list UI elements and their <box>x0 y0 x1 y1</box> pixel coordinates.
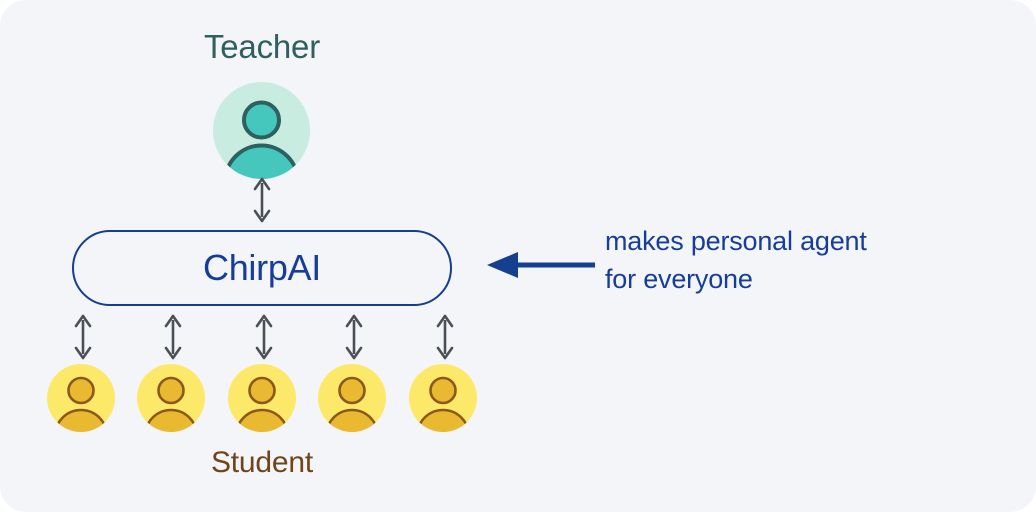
annotation-line-2: for everyone <box>605 260 1005 298</box>
student-link-arrow-3 <box>252 314 276 360</box>
chirpai-node[interactable]: ChirpAI <box>72 230 452 306</box>
teacher-chirpai-link-arrow <box>250 177 274 223</box>
student-avatar-4 <box>318 364 386 432</box>
teacher-label: Teacher <box>0 28 524 66</box>
annotation-line-1: makes personal agent <box>605 222 1005 260</box>
student-link-arrow-1 <box>71 314 95 360</box>
student-avatar-3 <box>228 364 296 432</box>
annotation-text: makes personal agent for everyone <box>605 222 1005 298</box>
teacher-avatar <box>213 82 310 179</box>
student-avatar-1 <box>47 364 115 432</box>
diagram-canvas: Teacher ChirpAI <box>0 0 1036 512</box>
student-link-arrow-4 <box>342 314 366 360</box>
student-avatar-2 <box>137 364 205 432</box>
student-link-arrow-2 <box>161 314 185 360</box>
student-link-arrow-5 <box>433 314 457 360</box>
chirpai-label: ChirpAI <box>203 247 321 289</box>
student-label: Student <box>0 446 524 480</box>
student-avatar-5 <box>409 364 477 432</box>
annotation-left-arrow-icon <box>487 250 595 280</box>
